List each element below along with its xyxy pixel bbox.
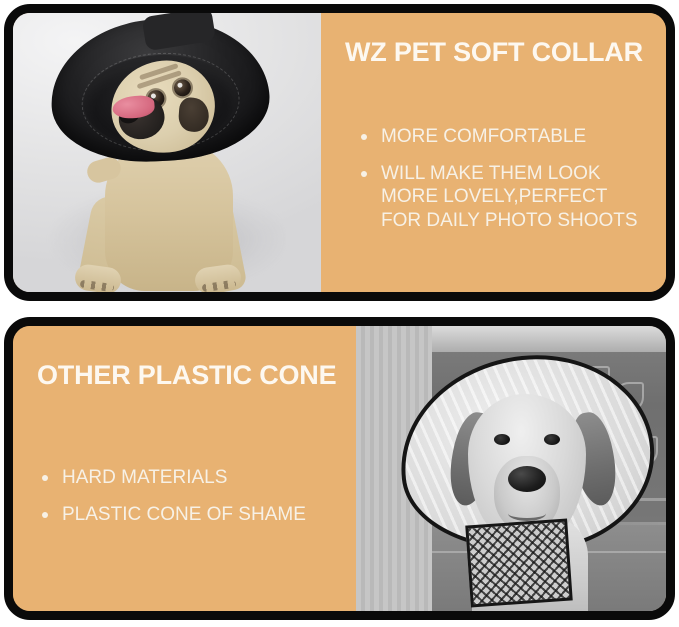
cone-mesh-strap [465, 519, 572, 608]
panel-wz-pet-soft-collar: WZ PET SOFT COLLAR MORE COMFORTABLE WILL… [4, 4, 675, 301]
feature-list-plastic-cone: HARD MATERIALS PLASTIC CONE OF SHAME [40, 466, 340, 540]
dog-mouth [508, 506, 546, 521]
bullet-text-cont: FOR DAILY PHOTO SHOOTS [381, 209, 659, 232]
cabinet-top-trim [432, 326, 666, 352]
bullet-text: HARD MATERIALS [62, 466, 340, 489]
page-title-soft-collar: WZ PET SOFT COLLAR [345, 39, 643, 66]
list-item: MORE COMFORTABLE [359, 125, 659, 148]
bullet-text: MORE COMFORTABLE [381, 125, 659, 148]
list-item: PLASTIC CONE OF SHAME [40, 503, 340, 526]
bullet-text: WILL MAKE THEM LOOK [381, 162, 659, 185]
dog-ear [178, 97, 210, 133]
bullet-text-cont: MORE LOVELY,PERFECT [381, 185, 659, 208]
dog-eye-left [494, 434, 510, 445]
pug-wearing-black-soft-collar-photo [13, 13, 321, 292]
dog-eye-right [544, 434, 560, 445]
list-item: WILL MAKE THEM LOOK MORE LOVELY,PERFECT … [359, 162, 659, 232]
dog-nose [508, 466, 546, 492]
collar-tab [142, 13, 216, 51]
list-item: HARD MATERIALS [40, 466, 340, 489]
labrador-wearing-plastic-cone-photo [356, 326, 666, 611]
page-title-plastic-cone: OTHER PLASTIC CONE [37, 362, 336, 389]
comparison-infographic: WZ PET SOFT COLLAR MORE COMFORTABLE WILL… [0, 0, 679, 627]
top-panel-text-area: WZ PET SOFT COLLAR MORE COMFORTABLE WILL… [321, 13, 666, 292]
feature-list-soft-collar: MORE COMFORTABLE WILL MAKE THEM LOOK MOR… [359, 125, 659, 246]
dog-eye-right [173, 78, 193, 98]
bullet-text: PLASTIC CONE OF SHAME [62, 503, 340, 526]
